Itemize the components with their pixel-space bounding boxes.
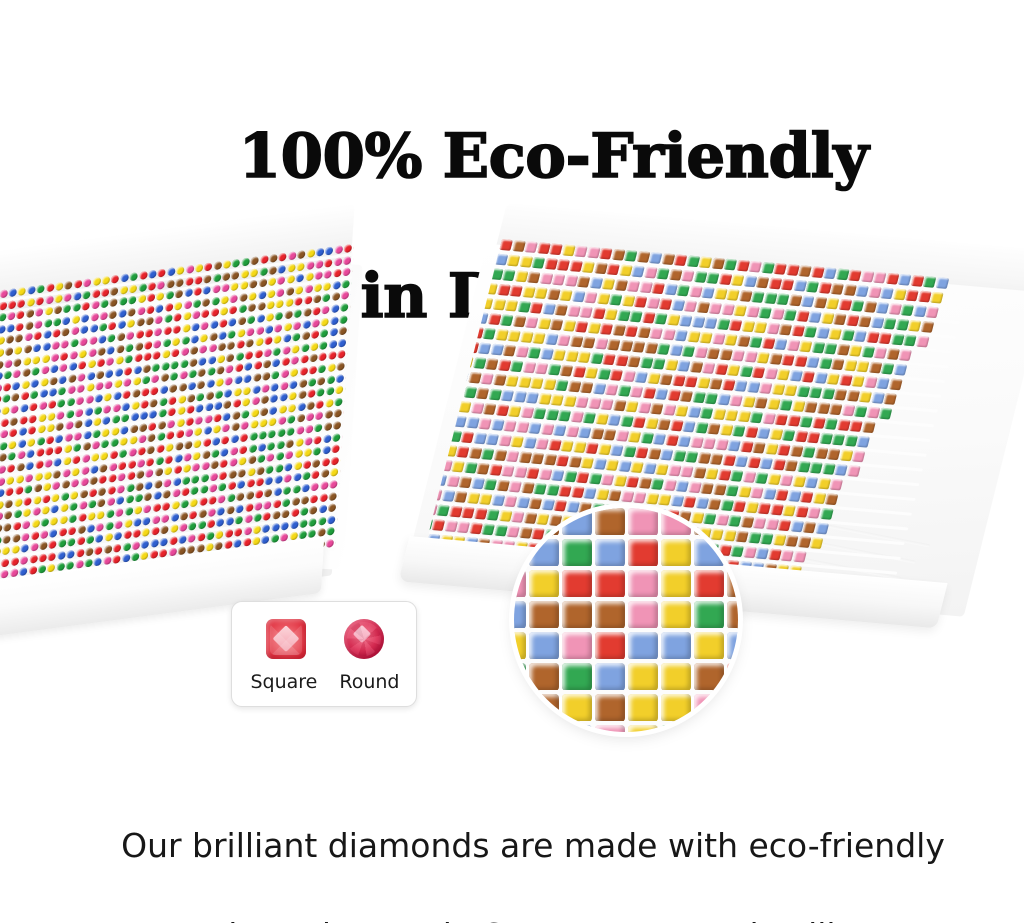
magnified-drill-row	[514, 570, 738, 600]
magnifier-closeup	[514, 508, 738, 732]
magnified-drill-row	[514, 601, 738, 631]
caption-text: Our brilliant diamonds are made with eco…	[0, 778, 1024, 923]
caption-line-2: resin and come in Square or Round Drill.	[0, 913, 1024, 923]
legend-label-square: Square	[250, 671, 317, 693]
drill-shape-legend[interactable]: Square Round	[231, 601, 417, 707]
square-gem-icon	[266, 619, 306, 659]
tray-box-left	[0, 197, 375, 660]
magnified-drill-row	[514, 663, 738, 693]
caption-line-1: Our brilliant diamonds are made with eco…	[121, 826, 945, 865]
round-gem-icon	[344, 619, 384, 659]
magnified-drill-row	[514, 632, 738, 662]
magnified-drill-row	[514, 508, 738, 538]
headline-line-1: 100% Eco-Friendly	[239, 121, 869, 192]
legend-labels: Square Round	[232, 666, 418, 698]
magnified-drill-row	[514, 694, 738, 724]
product-photo-round-tray	[0, 228, 374, 648]
legend-gems	[232, 615, 418, 663]
legend-label-round: Round	[339, 671, 399, 693]
magnified-drill-row	[514, 725, 738, 732]
magnified-drill-row	[514, 539, 738, 569]
marketing-image: 100% Eco-Friendly Resin Diamonds	[0, 0, 1024, 923]
